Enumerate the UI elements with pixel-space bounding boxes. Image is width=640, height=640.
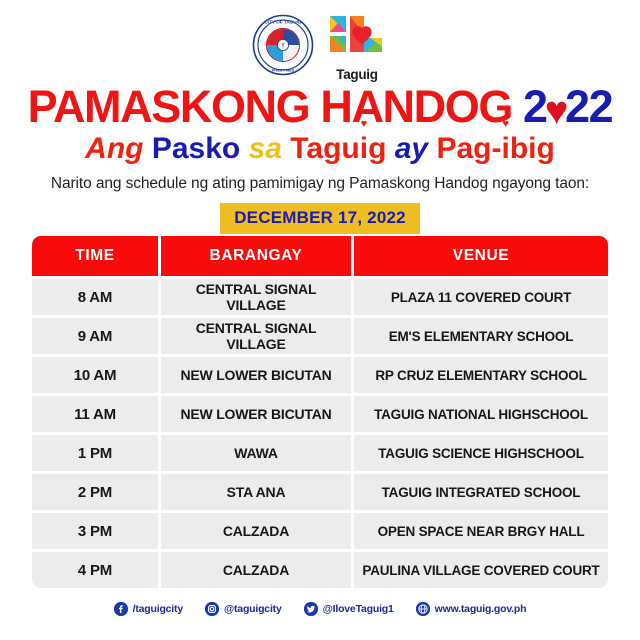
page-title: PAMASKONG HANDOG 2♥22: [0, 84, 640, 131]
footer-instagram-label: @taguigcity: [224, 603, 282, 615]
tagline-word-taguig: Taguig: [290, 132, 386, 165]
footer-facebook-label: /taguigcity: [133, 603, 183, 615]
cell-venue: OPEN SPACE NEAR BRGY HALL: [354, 513, 608, 549]
tagline: Ang Pasko sa Taguig ay Pag-ibig: [0, 130, 640, 168]
table-row: 2 PM STA ANA TAGUIG INTEGRATED SCHOOL: [32, 474, 608, 510]
cell-time: 2 PM: [32, 474, 158, 510]
cell-time: 10 AM: [32, 357, 158, 393]
instagram-icon: [205, 602, 219, 616]
date-badge: DECEMBER 17, 2022: [220, 203, 420, 234]
footer-website-label: www.taguig.gov.ph: [435, 603, 527, 615]
table-row: 3 PM CALZADA OPEN SPACE NEAR BRGY HALL: [32, 513, 608, 549]
cell-venue: EM'S ELEMENTARY SCHOOL: [354, 318, 608, 354]
intro-text: Narito ang schedule ng ating pamimigay n…: [0, 175, 640, 193]
footer-facebook[interactable]: /taguigcity: [114, 602, 183, 616]
cell-barangay: WAWA: [161, 435, 351, 471]
cell-venue: TAGUIG INTEGRATED SCHOOL: [354, 474, 608, 510]
tagline-taguig-b: g: [368, 132, 386, 165]
twitter-icon: [304, 602, 318, 616]
cell-barangay: NEW LOWER BICUTAN: [161, 357, 351, 393]
table-row: 9 AM CENTRAL SIGNAL VILLAGE EM'S ELEMENT…: [32, 318, 608, 354]
cell-venue: TAGUIG SCIENCE HIGHSCHOOL: [354, 435, 608, 471]
tagline-pagibig-b: big: [510, 132, 555, 165]
table-row: 10 AM NEW LOWER BICUTAN RP CRUZ ELEMENTA…: [32, 357, 608, 393]
footer-twitter[interactable]: @IloveTaguig1: [304, 602, 394, 616]
cell-time: 8 AM: [32, 279, 158, 315]
facebook-icon: [114, 602, 128, 616]
table-header-row: TIME BARANGAY VENUE: [32, 236, 608, 276]
cell-venue: TAGUIG NATIONAL HIGHSCHOOL: [354, 396, 608, 432]
column-header-time: TIME: [32, 236, 158, 276]
table-row: 11 AM NEW LOWER BICUTAN TAGUIG NATIONAL …: [32, 396, 608, 432]
cell-time: 11 AM: [32, 396, 158, 432]
tagline-pagibig-a: Pag-: [436, 132, 501, 165]
taguig-brand-logo: Taguig: [326, 14, 388, 80]
tagline-pagibig-i-heart: i: [501, 130, 509, 168]
schedule-table: TIME BARANGAY VENUE 8 AM CENTRAL SIGNAL …: [32, 236, 608, 588]
footer-twitter-label: @IloveTaguig1: [323, 603, 394, 615]
cell-barangay: CENTRAL SIGNAL VILLAGE: [161, 279, 351, 315]
column-header-venue: VENUE: [354, 236, 608, 276]
tagline-taguig-a: Tagu: [290, 132, 359, 165]
tagline-word-ang: Ang: [85, 132, 143, 165]
title-main: PAMASKONG HANDOG: [28, 81, 523, 132]
table-row: 4 PM CALZADA PAULINA VILLAGE COVERED COU…: [32, 552, 608, 588]
cell-venue: RP CRUZ ELEMENTARY SCHOOL: [354, 357, 608, 393]
table-row: 8 AM CENTRAL SIGNAL VILLAGE PLAZA 11 COV…: [32, 279, 608, 315]
title-year-post: 22: [565, 81, 612, 132]
cell-venue: PLAZA 11 COVERED COURT: [354, 279, 608, 315]
cell-barangay: CALZADA: [161, 552, 351, 588]
tagline-word-ay: ay: [395, 132, 428, 165]
footer-instagram[interactable]: @taguigcity: [205, 602, 282, 616]
footer-website[interactable]: www.taguig.gov.ph: [416, 602, 527, 616]
cell-barangay: NEW LOWER BICUTAN: [161, 396, 351, 432]
footer-social-bar: /taguigcity @taguigcity @IloveTaguig1: [0, 602, 640, 616]
title-year-pre: 2: [523, 81, 547, 132]
table-row: 1 PM WAWA TAGUIG SCIENCE HIGHSCHOOL: [32, 435, 608, 471]
tagline-word-sa: sa: [249, 132, 282, 165]
tagline-word-pasko: Pasko: [152, 132, 240, 165]
cell-barangay: CENTRAL SIGNAL VILLAGE: [161, 318, 351, 354]
cell-barangay: CALZADA: [161, 513, 351, 549]
cell-time: 3 PM: [32, 513, 158, 549]
cell-time: 4 PM: [32, 552, 158, 588]
column-header-barangay: BARANGAY: [161, 236, 351, 276]
city-of-taguig-seal: T CITY OF TAGUIG PHILIPPINES: [252, 14, 314, 76]
tagline-word-pagibig: Pag-ibig: [436, 132, 554, 165]
logo-row: T CITY OF TAGUIG PHILIPPINES: [0, 14, 640, 80]
date-badge-wrapper: DECEMBER 17, 2022: [0, 203, 640, 234]
taguig-wordmark: Taguig: [326, 68, 388, 82]
seal-top-text: CITY OF TAGUIG: [265, 19, 302, 24]
cell-venue: PAULINA VILLAGE COVERED COURT: [354, 552, 608, 588]
seal-bottom-text: PHILIPPINES: [272, 68, 295, 72]
tagline-taguig-i-heart: i: [360, 130, 368, 168]
poster-canvas: T CITY OF TAGUIG PHILIPPINES: [0, 0, 640, 640]
cell-time: 9 AM: [32, 318, 158, 354]
globe-icon: [416, 602, 430, 616]
cell-barangay: STA ANA: [161, 474, 351, 510]
cell-time: 1 PM: [32, 435, 158, 471]
heart-icon: ♥: [545, 91, 567, 131]
